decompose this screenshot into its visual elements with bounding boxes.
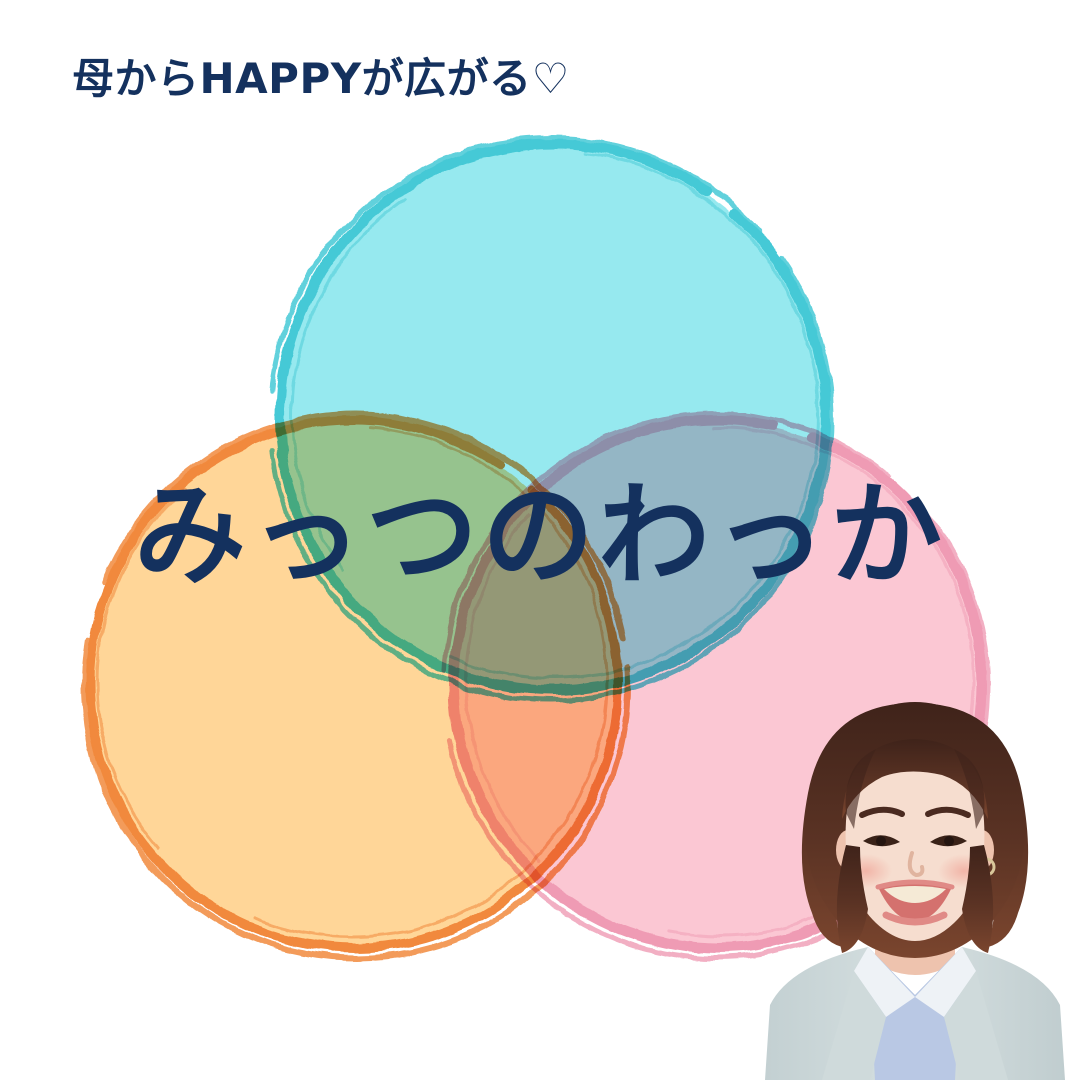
pupil-right xyxy=(944,836,954,846)
pupil-left xyxy=(876,836,886,846)
portrait-illustration xyxy=(750,695,1080,1080)
presenter-portrait xyxy=(750,695,1080,1080)
poster-canvas: 母からHAPPYが広がる♡ xyxy=(0,0,1080,1080)
portrait-body xyxy=(765,702,1065,1080)
